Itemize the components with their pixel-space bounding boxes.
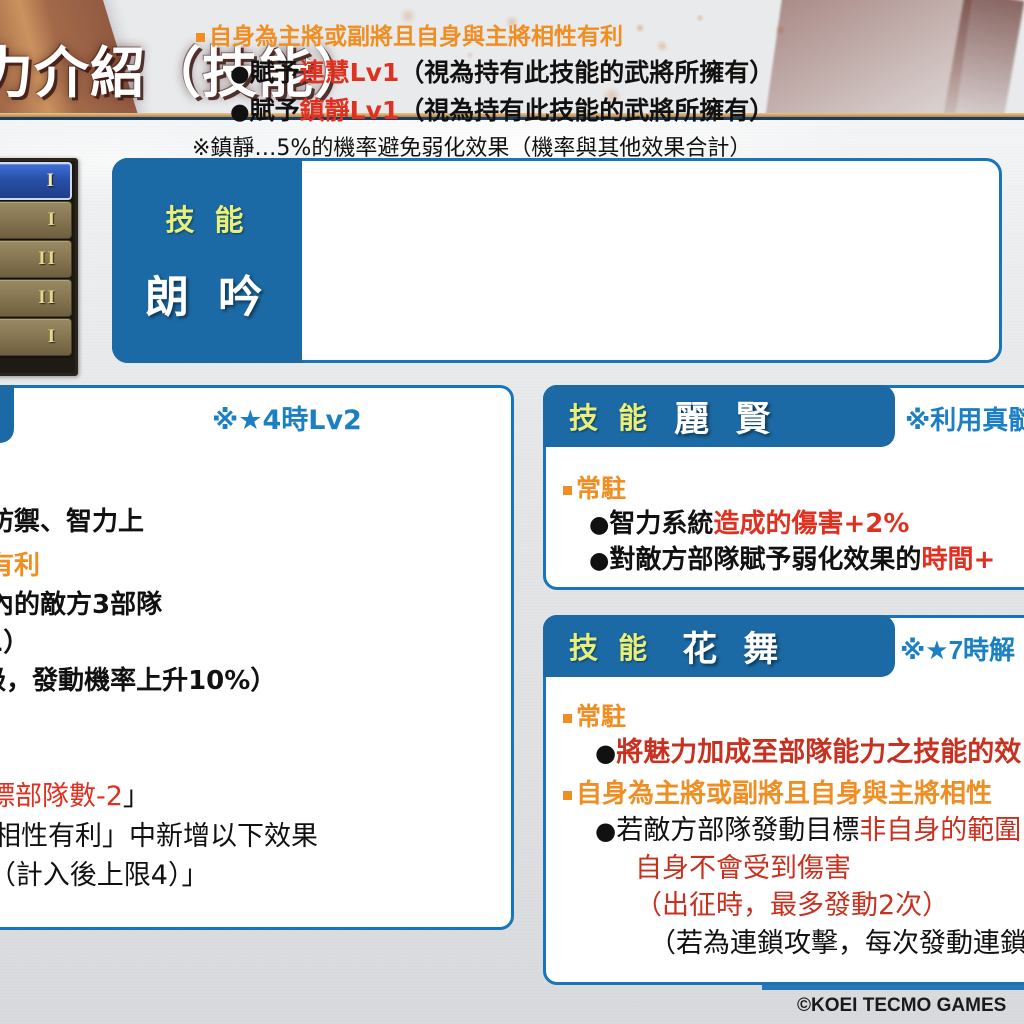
skill-unlock-note-reiken: ※利用真髓 [905,400,1024,437]
skill-card-rougin: 技 能 朗 吟 [112,158,1002,363]
skill-effect-line: 15秒）（下限1） [0,626,534,660]
bullet-square-icon [196,33,205,42]
skill-effect-line: 自身不會受到傷害 [635,851,1024,887]
skill-card-header-left [0,385,14,443]
skill-label: 技 能 [569,625,652,667]
list-item[interactable]: II [0,279,72,317]
footer-strip [762,985,1024,990]
bullet-dot-icon: ● [589,510,609,538]
bullet-dot-icon: ● [230,99,250,125]
skill-effect-line: 常駐 [563,472,995,505]
list-item-numeral: I [48,209,57,231]
skill-effect-line: 自身為主將或副將且自身與主將相性有利 [196,22,1014,52]
skill-card-kabu-body: 常駐 ●將魅力加成至部隊能力之技能的效 自身為主將或副將且自身與主將相性 ●若敵… [563,700,1024,961]
skill-effect-line: ●智力系統造成的傷害+2% [589,507,995,541]
bullet-dot-icon: ● [595,738,616,767]
bullet-dot-icon: ● [589,546,609,574]
skill-name: 花 舞 [682,621,785,672]
skill-card-rougin-body: 自身為主將或副將且自身與主將相性有利 ●賦予連慧Lv1（視為持有此技能的武將所擁… [196,22,1014,163]
skill-effect-line: （若為連鎖攻擊，每次發動連鎖攻擊 [649,926,1024,962]
bullet-square-icon [563,486,572,495]
skill-effect-spacer [0,737,534,771]
skill-effect-line: 動1次） [0,703,534,737]
list-item-numeral: II [38,287,57,309]
list-item-numeral: I [48,326,57,348]
skill-note-line: ※鎮靜…5%的機率避免弱化效果（機率與其他效果合計） [192,134,1014,163]
copyright-text: ©KOEI TECMO GAMES [797,995,1006,1017]
skill-effect-line: ●賦予連慧Lv1（視為持有此技能的武將所擁有） [230,56,1014,90]
skill-card-header-reiken: 技 能 麗 賢 [543,385,895,447]
skill-card-header-rougin: 技 能 朗 吟 [112,158,302,363]
skill-effect-line: 且自身與主將相性有利」中新增以下效果 [0,819,534,855]
skill-name: 麗 賢 [674,391,777,442]
skill-unlock-note-kabu: ※★7時解 [900,630,1015,667]
skill-effect-line: 常駐 [563,700,1024,733]
skill-card-header-kabu: 技 能 花 舞 [543,615,895,677]
list-item[interactable]: I [0,318,72,356]
skill-label: 技 能 [165,197,248,239]
skill-effect-line: 「戰法目標部隊數-2」 [0,779,534,815]
skill-card-left-body: 加計至部隊的防禦、智力上 身與主將相性有利 機率使目標在內的敵方3部隊 15秒）… [0,505,534,894]
skill-unlock-note-left: ※★4時Lv2 [212,398,362,437]
skill-effect-line: 加計至部隊的防禦、智力上 [0,505,534,539]
skill-effect-line: ●賦予鎮靜Lv1（視為持有此技能的武將所擁有） [230,94,1014,128]
bullet-dot-icon: ● [230,61,250,87]
skill-name: 朗 吟 [145,261,269,325]
list-item[interactable]: II [0,240,72,278]
list-item-numeral: II [38,248,57,270]
skill-effect-line: 身與主將相性有利 [0,549,534,583]
skill-effect-line: 自身為主將或副將且自身與主將相性 [563,777,1024,811]
bullet-square-icon [563,714,572,723]
skill-effect-line: 機率使目標在內的敵方3部隊 [0,588,534,622]
skill-level-list-widget[interactable]: I I II II I [0,158,78,376]
skill-effect-line: 星階級每多1級，發動機率上升10%） [0,664,534,698]
list-item[interactable]: I [0,201,72,239]
skill-card-reiken-body: 常駐 ●智力系統造成的傷害+2% ●對敵方部隊賦予弱化效果的時間+ [563,472,995,578]
list-item-numeral: I [47,170,56,192]
list-item[interactable]: I [0,162,72,200]
bullet-dot-icon: ● [595,816,616,845]
skill-effect-line: ●對敵方部隊賦予弱化效果的時間+ [589,543,995,577]
skill-effect-line: 目標部隊數+1（計入後上限4）」 [0,858,534,894]
skill-effect-line: ●將魅力加成至部隊能力之技能的效 [595,735,1024,771]
bullet-square-icon [563,791,572,800]
skill-effect-line: ●若敵方部隊發動目標非自身的範圍 [595,813,1024,849]
skill-label: 技 能 [569,395,652,437]
skill-effect-line: （出征時，最多發動2次） [635,888,1024,924]
